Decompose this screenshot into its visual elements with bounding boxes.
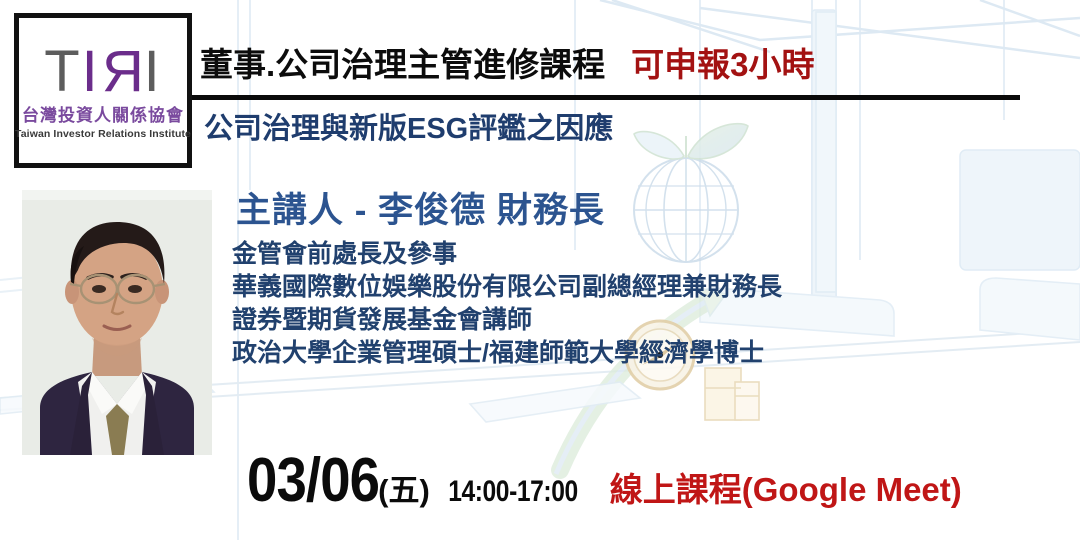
event-date: 03/06 [247, 450, 379, 512]
tiri-logo-letters: TIRI [44, 43, 162, 101]
course-subtitle: 公司治理與新版ESG評鑑之因應 [204, 105, 613, 147]
speaker-bio: 金管會前處長及參事 華義國際數位娛樂股份有限公司副總經理兼財務長 證券暨期貨發展… [232, 238, 932, 370]
page-title: 董事.公司治理主管進修課程 [200, 38, 605, 86]
credit-hours-badge: 可申報3小時 [631, 38, 814, 86]
header: 董事.公司治理主管進修課程 可申報3小時 [200, 38, 815, 86]
tiri-logo-chinese-name: 台灣投資人關係協會 [22, 107, 184, 126]
bio-line: 政治大學企業管理碩士/福建師範大學經濟學博士 [232, 337, 932, 370]
header-divider [192, 95, 1020, 100]
bio-line: 金管會前處長及參事 [232, 238, 932, 271]
poster-root: TIRI 台灣投資人關係協會 Taiwan Investor Relations… [0, 0, 1080, 540]
bio-line: 證券暨期貨發展基金會講師 [232, 304, 932, 337]
speaker-photo [22, 190, 212, 455]
tiri-logo: TIRI 台灣投資人關係協會 Taiwan Investor Relations… [14, 13, 192, 168]
event-time: 14:00-17:00 [448, 475, 578, 509]
event-weekday: (五) [378, 465, 430, 510]
event-details: 03/06 (五) 14:00-17:00 線上課程(Google Meet) [238, 450, 962, 512]
tiri-logo-english-name: Taiwan Investor Relations Institute [15, 128, 191, 140]
event-venue: 線上課程(Google Meet) [610, 463, 962, 511]
bio-line: 華義國際數位娛樂股份有限公司副總經理兼財務長 [232, 271, 932, 304]
speaker-heading: 主講人 - 李俊德 財務長 [236, 182, 605, 233]
